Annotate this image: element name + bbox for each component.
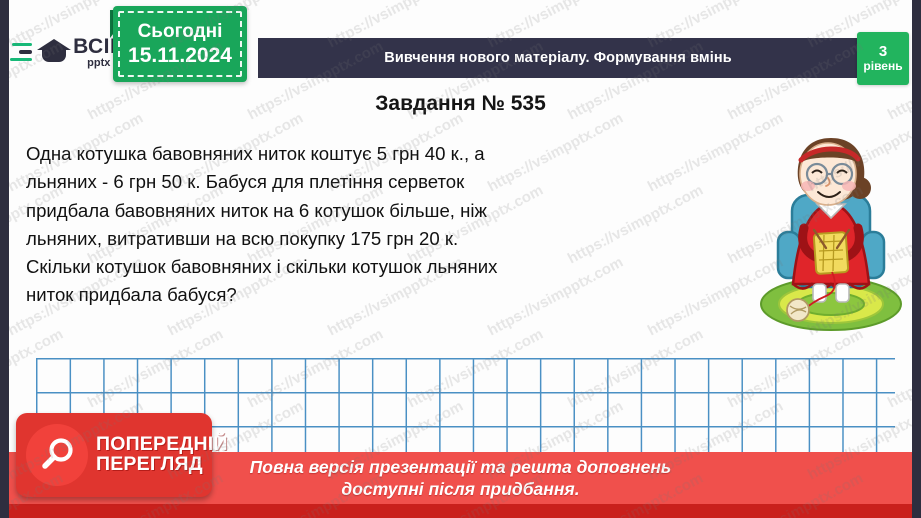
preview-line-2: ПЕРЕГЛЯД [96, 455, 228, 475]
task-line: льняних, витративши на всю покупку 175 г… [26, 225, 716, 253]
level-number: 3 [879, 43, 887, 60]
banner-bottom-strip [9, 504, 912, 518]
speed-lines-icon [8, 43, 32, 62]
magnifier-icon [26, 424, 88, 486]
right-edge-strip [912, 0, 921, 518]
today-date-badge: Сьогодні 15.11.2024 [113, 6, 247, 82]
task-line: Скільки котушок бавовняних і скільки кот… [26, 253, 716, 281]
brand-logo[interactable]: ВСІМ pptx [8, 28, 128, 76]
banner-line-1: Повна версія презентації та решта доповн… [250, 457, 672, 479]
level-word: рівень [863, 60, 902, 74]
presentation-slide: ВСІМ pptx Сьогодні 15.11.2024 Вивчення н… [0, 0, 921, 518]
preview-button-label: ПОПЕРЕДНІЙ ПЕРЕГЛЯД [96, 435, 228, 475]
banner-line-2: доступні після придбання. [341, 479, 579, 501]
task-line: придбала бавовняних ниток на 6 котушок б… [26, 197, 716, 225]
preview-button[interactable]: ПОПЕРЕДНІЙ ПЕРЕГЛЯД [16, 413, 212, 497]
task-line: Одна котушка бавовняних ниток коштує 5 г… [26, 140, 716, 168]
level-badge: 3 рівень [857, 32, 909, 85]
grandmother-knitting-illustration [756, 132, 906, 337]
today-date: 15.11.2024 [128, 43, 232, 69]
section-header-bar: Вивчення нового матеріалу. Формування вм… [258, 38, 858, 78]
section-header-title: Вивчення нового матеріалу. Формування вм… [384, 50, 732, 66]
task-line: ниток придбала бабуся? [26, 281, 716, 309]
graduation-cap-icon [37, 35, 68, 69]
task-body: Одна котушка бавовняних ниток коштує 5 г… [26, 140, 716, 310]
today-label: Сьогодні [138, 20, 223, 43]
task-title: Завдання № 535 [0, 92, 921, 116]
left-edge-strip [0, 0, 9, 518]
task-line: льняних - 6 грн 50 к. Бабуся для плетінн… [26, 168, 716, 196]
